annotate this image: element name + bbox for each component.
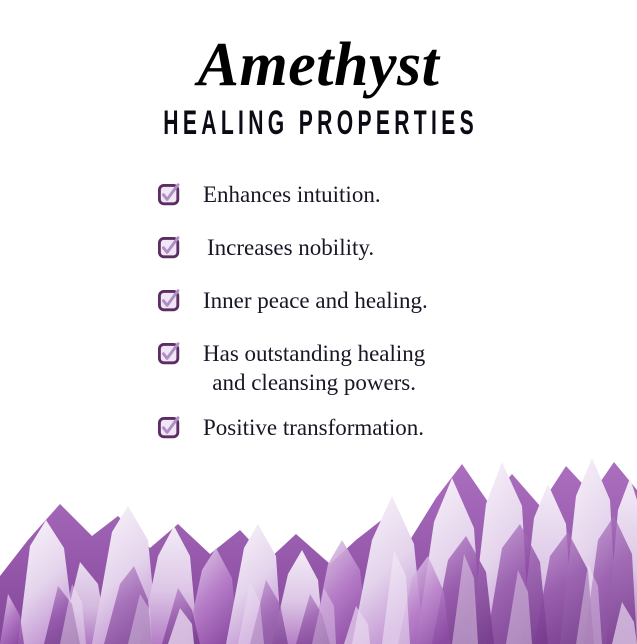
list-item: Increases nobility. bbox=[0, 233, 637, 262]
list-item-label: Enhances intuition. bbox=[203, 180, 381, 209]
list-item-label: Positive transformation. bbox=[203, 413, 424, 442]
list-item-label: Inner peace and healing. bbox=[203, 286, 428, 315]
checked-checkbox-icon bbox=[158, 417, 181, 440]
checked-checkbox-icon bbox=[158, 343, 181, 366]
poster-header: Amethyst HEALING PROPERTIES bbox=[0, 0, 637, 140]
page-title: Amethyst bbox=[0, 0, 637, 96]
list-item: Positive transformation. bbox=[0, 413, 637, 442]
list-item-label: Increases nobility. bbox=[207, 233, 374, 262]
page-subtitle: HEALING PROPERTIES bbox=[121, 96, 516, 140]
checked-checkbox-icon bbox=[158, 237, 181, 260]
checked-checkbox-icon bbox=[158, 184, 181, 207]
checked-checkbox-icon bbox=[158, 290, 181, 313]
healing-properties-list: Enhances intuition. Increases nobility. … bbox=[0, 180, 637, 466]
list-item: Has outstanding healing and cleansing po… bbox=[0, 339, 637, 397]
list-item-label: Has outstanding healing and cleansing po… bbox=[203, 339, 425, 397]
amethyst-healing-properties-poster: Amethyst HEALING PROPERTIES Enhances int… bbox=[0, 0, 637, 644]
amethyst-crystal-cluster bbox=[0, 444, 637, 644]
list-item: Inner peace and healing. bbox=[0, 286, 637, 315]
list-item: Enhances intuition. bbox=[0, 180, 637, 209]
